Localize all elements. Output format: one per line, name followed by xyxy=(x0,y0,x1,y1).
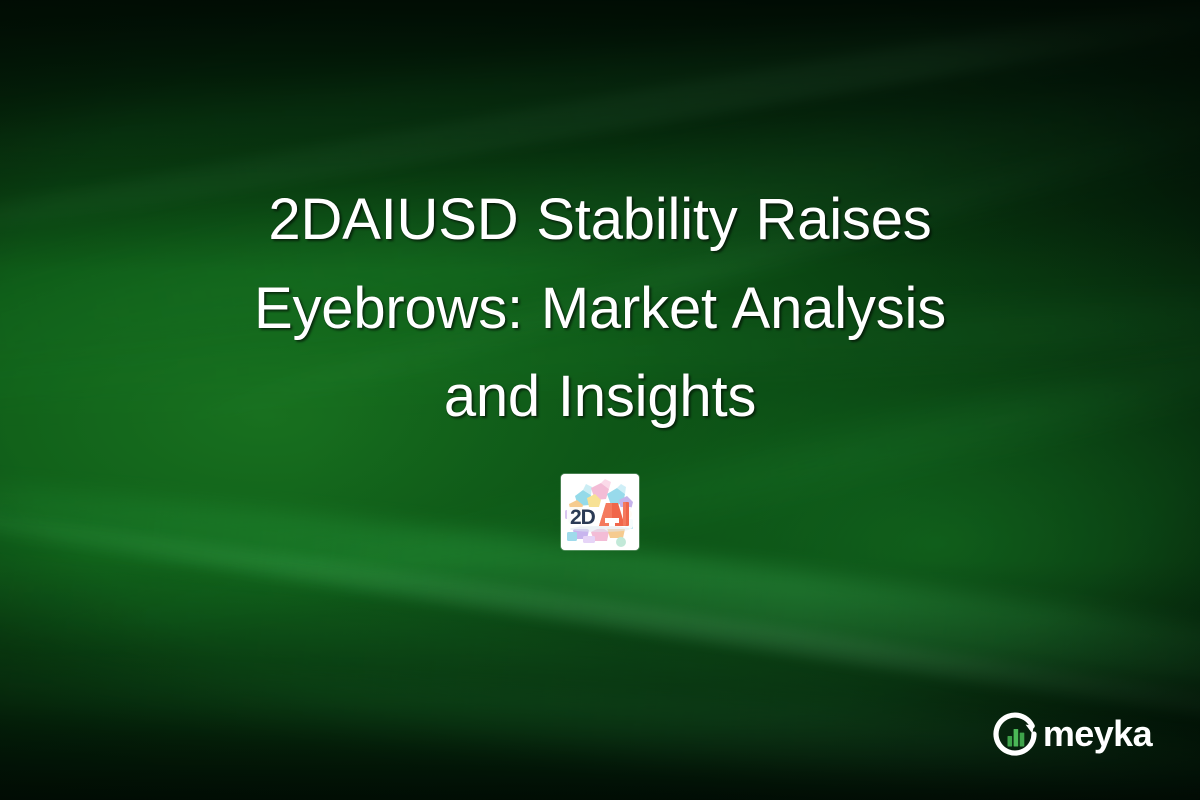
article-share-banner: 2DAIUSD Stability Raises Eyebrows: Marke… xyxy=(0,0,1200,800)
page-title-line-3: and Insights xyxy=(444,364,756,429)
token-logo-2dai: 2D xyxy=(561,474,639,550)
page-title-line-2: Eyebrows: Market Analysis xyxy=(254,276,946,341)
brand-name-label: meyka xyxy=(1043,716,1152,752)
svg-text:2D: 2D xyxy=(570,506,596,529)
page-title: 2DAIUSD Stability Raises Eyebrows: Marke… xyxy=(100,176,1100,442)
page-title-line-1: 2DAIUSD Stability Raises xyxy=(268,187,931,252)
banner-content: 2DAIUSD Stability Raises Eyebrows: Marke… xyxy=(0,0,1200,800)
brand-logo-meyka[interactable]: meyka xyxy=(992,710,1152,758)
token-logo-2dai-icon: 2D xyxy=(561,474,639,550)
meyka-ring-barchart-icon xyxy=(992,710,1040,758)
